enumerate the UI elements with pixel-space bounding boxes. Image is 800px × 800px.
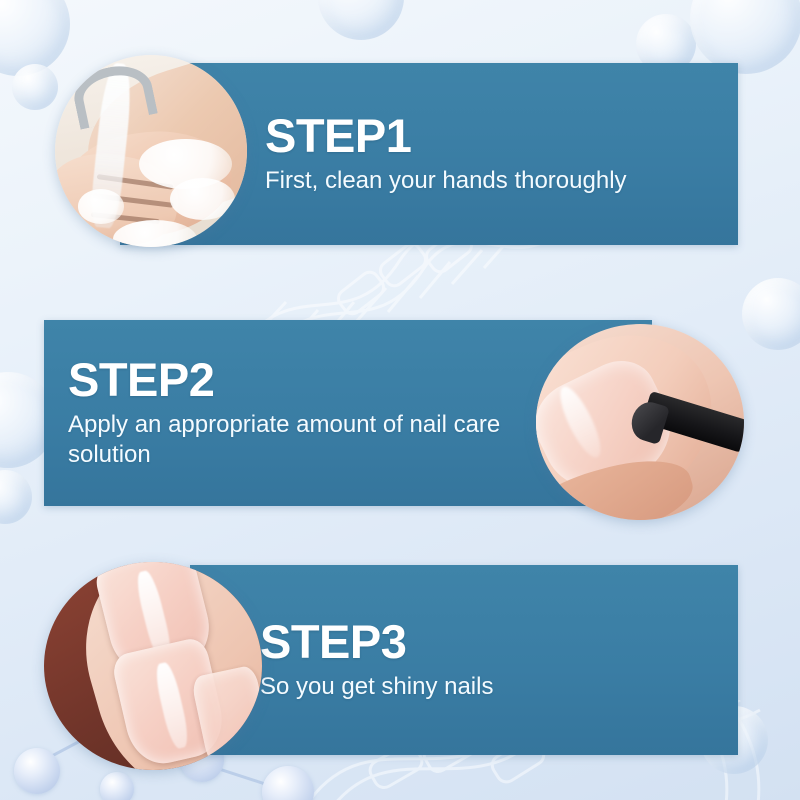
step-3-photo xyxy=(44,562,262,770)
step-2-title: STEP2 xyxy=(68,356,502,404)
infographic-canvas: STEP1 First, clean your hands thoroughly… xyxy=(0,0,800,800)
step-2-photo-art xyxy=(536,324,744,520)
step-3-description: So you get shiny nails xyxy=(260,672,724,702)
step-3-banner: STEP3 So you get shiny nails xyxy=(190,565,738,755)
bubble-mid-right xyxy=(742,278,800,350)
molecule-atom-4 xyxy=(262,766,314,800)
step-1-title: STEP1 xyxy=(265,112,724,160)
soap-foam-3 xyxy=(170,178,235,220)
step-1-photo xyxy=(55,55,247,247)
molecule-atom-5 xyxy=(100,772,134,800)
step-2-photo xyxy=(536,324,744,520)
step-3-photo-art xyxy=(44,562,262,770)
soap-foam-4 xyxy=(78,189,124,224)
bubble-top-left-small xyxy=(12,64,58,110)
step-1-description: First, clean your hands thoroughly xyxy=(265,166,724,196)
step-2-description: Apply an appropriate amount of nail care… xyxy=(68,410,502,470)
bubble-top-center xyxy=(318,0,404,40)
step-3-title: STEP3 xyxy=(260,618,724,666)
step-1-photo-art xyxy=(55,55,247,247)
step-3-text-block: STEP3 So you get shiny nails xyxy=(190,565,738,755)
bubble-left-lower xyxy=(0,470,32,524)
